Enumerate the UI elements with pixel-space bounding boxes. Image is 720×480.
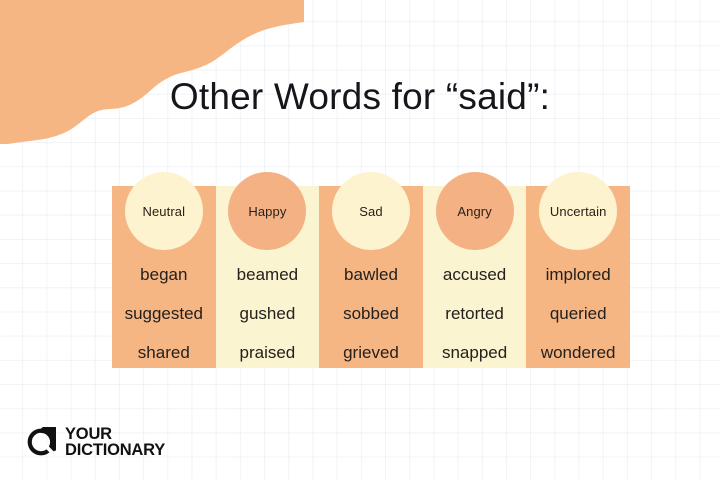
column-heading-bubble: Uncertain — [539, 172, 617, 250]
column-heading-bubble: Angry — [436, 172, 514, 250]
infographic-poster: Other Words for “said”: Neutral began su… — [0, 0, 720, 480]
brand-line-2: DICTIONARY — [65, 442, 165, 458]
word-item: began — [112, 255, 216, 294]
word-item: suggested — [112, 294, 216, 333]
column-heading-bubble: Sad — [332, 172, 410, 250]
word-item: grieved — [319, 333, 423, 372]
word-list: implored queried wondered — [526, 255, 630, 372]
synonym-column-sad: Sad bawled sobbed grieved — [319, 186, 423, 368]
synonym-column-neutral: Neutral began suggested shared — [112, 186, 216, 368]
brand-line-1: YOUR — [65, 426, 165, 442]
word-item: accused — [423, 255, 527, 294]
word-item: retorted — [423, 294, 527, 333]
word-item: queried — [526, 294, 630, 333]
column-heading-bubble: Happy — [228, 172, 306, 250]
q-ring-logo-icon — [26, 427, 56, 457]
brand-wordmark: YOUR DICTIONARY — [65, 426, 165, 458]
synonym-column-uncertain: Uncertain implored queried wondered — [526, 186, 630, 368]
word-item: shared — [112, 333, 216, 372]
word-item: beamed — [216, 255, 320, 294]
word-item: gushed — [216, 294, 320, 333]
word-item: wondered — [526, 333, 630, 372]
word-item: bawled — [319, 255, 423, 294]
word-list: began suggested shared — [112, 255, 216, 372]
brand-lockup: YOUR DICTIONARY — [26, 426, 165, 458]
word-item: praised — [216, 333, 320, 372]
word-item: snapped — [423, 333, 527, 372]
word-list: bawled sobbed grieved — [319, 255, 423, 372]
decorative-orange-blob — [0, 0, 304, 144]
synonym-column-angry: Angry accused retorted snapped — [423, 186, 527, 368]
page-title: Other Words for “said”: — [0, 76, 720, 118]
synonym-table: Neutral began suggested shared Happy bea… — [112, 186, 630, 368]
synonym-column-happy: Happy beamed gushed praised — [216, 186, 320, 368]
word-list: accused retorted snapped — [423, 255, 527, 372]
column-heading-bubble: Neutral — [125, 172, 203, 250]
word-list: beamed gushed praised — [216, 255, 320, 372]
word-item: implored — [526, 255, 630, 294]
word-item: sobbed — [319, 294, 423, 333]
